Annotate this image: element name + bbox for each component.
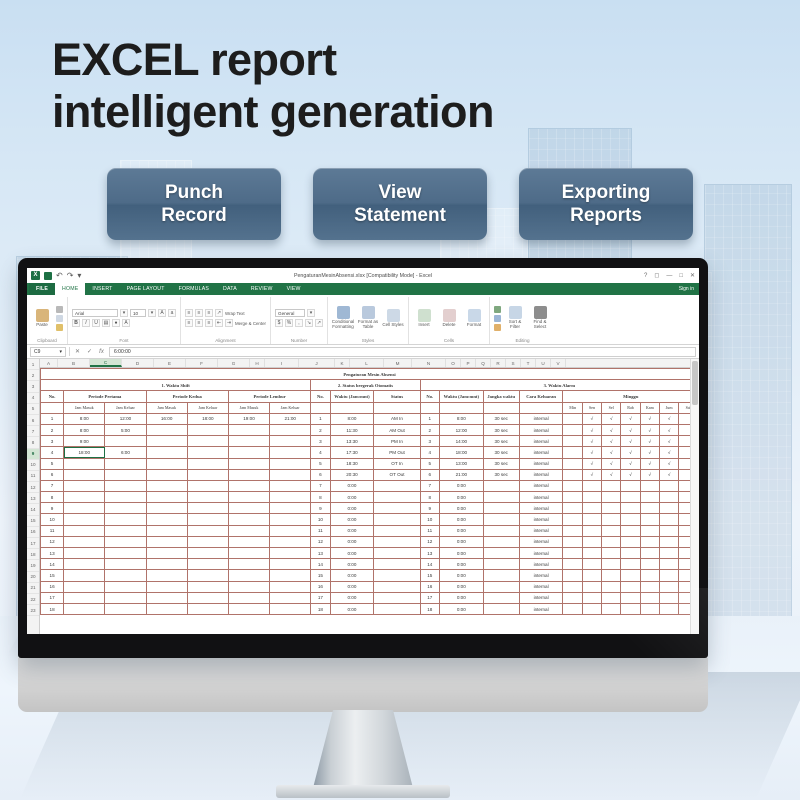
column-header-k[interactable]: K — [335, 359, 350, 367]
bold-icon[interactable]: B — [72, 319, 80, 327]
s1-value[interactable] — [187, 536, 228, 547]
s3-day-rab[interactable] — [621, 548, 640, 559]
punch-record-button[interactable]: Punch Record — [107, 168, 281, 240]
s3-day-sel[interactable] — [602, 592, 621, 603]
s3-day-sen[interactable]: √ — [582, 447, 601, 458]
s1-value[interactable]: 16:00 — [146, 413, 187, 424]
s3-no[interactable]: 18 — [420, 603, 439, 614]
s3-day-rab[interactable] — [621, 525, 640, 536]
column-header-strip[interactable]: ABCDEFGHIJKLMNOPQRSTUV — [40, 359, 699, 368]
s1-value[interactable] — [187, 592, 228, 603]
s3-day-rab[interactable] — [621, 559, 640, 570]
s3-day-min[interactable] — [563, 536, 582, 547]
s3-day-sel[interactable] — [602, 503, 621, 514]
s1-value[interactable] — [228, 469, 269, 480]
header-s1-jam-keluar-3[interactable]: Jam Keluar — [270, 402, 311, 413]
s1-value[interactable] — [146, 458, 187, 469]
s1-value[interactable] — [228, 525, 269, 536]
s3-day-rab[interactable] — [621, 603, 640, 614]
tab-file[interactable]: FILE — [29, 283, 55, 295]
header-s3-jangka-spacer[interactable] — [483, 402, 519, 413]
row-header-14[interactable]: 14 — [27, 504, 39, 515]
s3-day-sel[interactable] — [602, 536, 621, 547]
header-s1-jam-masuk-1[interactable]: Jam Masuk — [64, 402, 105, 413]
s3-waktu[interactable]: 13:00 — [439, 458, 483, 469]
s3-jangka[interactable]: 30 sec — [483, 413, 519, 424]
header-s1-jam-keluar-2[interactable]: Jam Keluar — [187, 402, 228, 413]
undo-icon[interactable]: ↶ — [56, 272, 63, 280]
s2-status[interactable] — [374, 514, 420, 525]
align-right-icon[interactable]: ≡ — [205, 319, 213, 327]
s2-status[interactable]: PM In — [374, 436, 420, 447]
window-controls[interactable]: ? ◻ — □ ✕ — [644, 272, 695, 279]
header-s3-waktu-spacer[interactable] — [439, 402, 483, 413]
s3-no[interactable]: 10 — [420, 514, 439, 525]
s2-status[interactable]: AM Out — [374, 424, 420, 435]
header-s2-status-spacer[interactable] — [374, 402, 420, 413]
s1-no[interactable]: 5 — [41, 458, 64, 469]
s1-value[interactable] — [270, 424, 311, 435]
s1-value[interactable] — [270, 447, 311, 458]
s3-day-jum[interactable] — [659, 581, 678, 592]
s3-cara[interactable]: internal — [519, 559, 563, 570]
s2-status[interactable]: PM Out — [374, 447, 420, 458]
s1-value[interactable] — [270, 514, 311, 525]
s1-value[interactable] — [270, 525, 311, 536]
s3-day-kam[interactable]: √ — [640, 424, 659, 435]
s3-day-sen[interactable] — [582, 548, 601, 559]
s2-status[interactable] — [374, 603, 420, 614]
column-header-b[interactable]: B — [58, 359, 90, 367]
s2-waktu[interactable]: 11:30 — [330, 424, 374, 435]
s1-value[interactable] — [146, 559, 187, 570]
s3-cara[interactable]: internal — [519, 480, 563, 491]
column-header-s[interactable]: S — [506, 359, 521, 367]
section-3-label[interactable]: 3. Waktu Alarm — [420, 380, 698, 391]
s3-day-sen[interactable]: √ — [582, 413, 601, 424]
header-s3-cara-spacer[interactable] — [519, 402, 563, 413]
s3-day-min[interactable] — [563, 592, 582, 603]
s1-value[interactable] — [228, 548, 269, 559]
s3-jangka[interactable] — [483, 592, 519, 603]
s3-day-rab[interactable] — [621, 536, 640, 547]
paste-button[interactable]: Paste — [31, 309, 53, 328]
s3-day-sen[interactable] — [582, 559, 601, 570]
s1-value[interactable] — [270, 436, 311, 447]
s2-no[interactable]: 9 — [311, 503, 330, 514]
row-header-22[interactable]: 22 — [27, 594, 39, 605]
s1-value[interactable] — [270, 570, 311, 581]
s1-value[interactable] — [146, 603, 187, 614]
s2-waktu[interactable]: 17:30 — [330, 447, 374, 458]
align-bottom-icon[interactable]: ≡ — [205, 309, 213, 317]
s3-waktu[interactable]: 0:00 — [439, 581, 483, 592]
s1-no[interactable]: 14 — [41, 559, 64, 570]
s3-no[interactable]: 6 — [420, 469, 439, 480]
row-header-12[interactable]: 12 — [27, 482, 39, 493]
s3-cara[interactable]: internal — [519, 492, 563, 503]
s1-value[interactable]: 8:00 — [64, 413, 105, 424]
s3-waktu[interactable]: 0:00 — [439, 570, 483, 581]
s3-jangka[interactable]: 30 sec — [483, 447, 519, 458]
s1-value[interactable]: 19:00 — [228, 413, 269, 424]
delete-cells-button[interactable]: Delete — [438, 309, 460, 328]
s2-no[interactable]: 8 — [311, 492, 330, 503]
s1-value[interactable] — [187, 559, 228, 570]
s3-waktu[interactable]: 0:00 — [439, 548, 483, 559]
s1-value[interactable] — [228, 581, 269, 592]
column-header-q[interactable]: Q — [476, 359, 491, 367]
s3-day-jum[interactable] — [659, 559, 678, 570]
s1-value[interactable] — [105, 536, 146, 547]
s3-waktu[interactable]: 0:00 — [439, 480, 483, 491]
s3-waktu[interactable]: 0:00 — [439, 492, 483, 503]
s3-day-sen[interactable]: √ — [582, 436, 601, 447]
header-day-sel[interactable]: Sel — [602, 402, 621, 413]
conditional-formatting-button[interactable]: Conditional Formatting — [332, 306, 354, 329]
s2-waktu[interactable]: 0:00 — [330, 581, 374, 592]
s3-waktu[interactable]: 0:00 — [439, 514, 483, 525]
s3-jangka[interactable]: 30 sec — [483, 458, 519, 469]
s3-day-min[interactable] — [563, 525, 582, 536]
row-header-16[interactable]: 16 — [27, 527, 39, 538]
section-2-label[interactable]: 2. Status bergerak Otomatis — [311, 380, 420, 391]
s1-value[interactable] — [105, 603, 146, 614]
s1-value[interactable] — [228, 603, 269, 614]
s2-no[interactable]: 15 — [311, 570, 330, 581]
s3-jangka[interactable] — [483, 570, 519, 581]
s3-day-min[interactable] — [563, 492, 582, 503]
s1-no[interactable]: 3 — [41, 436, 64, 447]
s1-value[interactable] — [146, 469, 187, 480]
s3-day-jum[interactable]: √ — [659, 469, 678, 480]
header-s2-status[interactable]: Status — [374, 391, 420, 402]
s2-waktu[interactable]: 18:30 — [330, 458, 374, 469]
s3-jangka[interactable]: 30 sec — [483, 436, 519, 447]
s3-jangka[interactable] — [483, 536, 519, 547]
header-s1-period-2[interactable]: Periode Kedua — [146, 391, 228, 402]
s1-value[interactable] — [105, 503, 146, 514]
s3-day-sen[interactable] — [582, 525, 601, 536]
name-box-dropdown-icon[interactable]: ▾ — [59, 349, 62, 355]
s1-value[interactable] — [64, 492, 105, 503]
s2-status[interactable]: OT In — [374, 458, 420, 469]
s2-waktu[interactable]: 0:00 — [330, 570, 374, 581]
s3-day-rab[interactable]: √ — [621, 447, 640, 458]
s1-value[interactable]: 8:00 — [64, 424, 105, 435]
s3-no[interactable]: 2 — [420, 424, 439, 435]
s3-waktu[interactable]: 0:00 — [439, 592, 483, 603]
s2-status[interactable] — [374, 480, 420, 491]
s2-status[interactable] — [374, 581, 420, 592]
s3-day-sel[interactable] — [602, 581, 621, 592]
s1-value[interactable] — [270, 548, 311, 559]
header-s2-no[interactable]: No. — [311, 391, 330, 402]
s3-day-sen[interactable] — [582, 592, 601, 603]
s3-day-sen[interactable]: √ — [582, 469, 601, 480]
s3-cara[interactable]: internal — [519, 603, 563, 614]
s1-value[interactable] — [270, 536, 311, 547]
s3-waktu[interactable]: 0:00 — [439, 536, 483, 547]
s3-day-sen[interactable] — [582, 492, 601, 503]
s3-day-sel[interactable] — [602, 514, 621, 525]
s2-status[interactable] — [374, 570, 420, 581]
s1-value[interactable] — [64, 469, 105, 480]
customize-qat-icon[interactable]: ▾ — [77, 272, 81, 280]
s3-day-min[interactable] — [563, 436, 582, 447]
s2-status[interactable] — [374, 559, 420, 570]
s3-day-min[interactable] — [563, 469, 582, 480]
s2-no[interactable]: 17 — [311, 592, 330, 603]
s1-value[interactable] — [187, 548, 228, 559]
s3-day-sel[interactable] — [602, 570, 621, 581]
s3-jangka[interactable] — [483, 559, 519, 570]
s3-day-min[interactable] — [563, 447, 582, 458]
s3-day-kam[interactable] — [640, 525, 659, 536]
s1-value[interactable] — [270, 592, 311, 603]
s3-day-jum[interactable] — [659, 492, 678, 503]
row-header-11[interactable]: 11 — [27, 471, 39, 482]
find-select-button[interactable]: Find & Select — [529, 306, 551, 329]
s1-value[interactable] — [146, 492, 187, 503]
s3-cara[interactable]: internal — [519, 503, 563, 514]
s3-cara[interactable]: internal — [519, 592, 563, 603]
s1-value[interactable] — [270, 492, 311, 503]
row-header-1[interactable]: 1 — [27, 359, 39, 370]
s3-no[interactable]: 12 — [420, 536, 439, 547]
s1-no[interactable]: 10 — [41, 514, 64, 525]
s3-cara[interactable]: internal — [519, 469, 563, 480]
section-1-label[interactable]: 1. Waktu Shift — [41, 380, 311, 391]
insert-function-icon[interactable]: fx — [97, 349, 106, 355]
s3-no[interactable]: 15 — [420, 570, 439, 581]
s3-day-sel[interactable]: √ — [602, 447, 621, 458]
s3-jangka[interactable] — [483, 525, 519, 536]
formula-input[interactable]: 6:00:00 — [109, 347, 696, 357]
redo-icon[interactable]: ↷ — [67, 272, 74, 280]
s1-value[interactable] — [105, 492, 146, 503]
s1-value[interactable] — [105, 592, 146, 603]
s1-value[interactable] — [146, 536, 187, 547]
s1-value[interactable] — [64, 503, 105, 514]
s3-day-sel[interactable] — [602, 525, 621, 536]
s3-waktu[interactable]: 0:00 — [439, 603, 483, 614]
s1-value[interactable] — [270, 458, 311, 469]
s3-cara[interactable]: internal — [519, 413, 563, 424]
s3-jangka[interactable]: 30 sec — [483, 469, 519, 480]
s1-no[interactable]: 17 — [41, 592, 64, 603]
s3-no[interactable]: 14 — [420, 559, 439, 570]
s1-value[interactable]: 9:00 — [64, 436, 105, 447]
s3-day-sel[interactable] — [602, 548, 621, 559]
column-header-u[interactable]: U — [536, 359, 551, 367]
cancel-entry-icon[interactable]: ✕ — [73, 348, 82, 355]
s2-no[interactable]: 4 — [311, 447, 330, 458]
tab-data[interactable]: DATA — [216, 283, 244, 295]
align-center-icon[interactable]: ≡ — [195, 319, 203, 327]
column-header-m[interactable]: M — [384, 359, 412, 367]
s3-no[interactable]: 9 — [420, 503, 439, 514]
s3-day-sen[interactable] — [582, 603, 601, 614]
row-header-21[interactable]: 21 — [27, 583, 39, 594]
s1-value[interactable] — [64, 592, 105, 603]
s3-day-min[interactable] — [563, 413, 582, 424]
column-header-a[interactable]: A — [40, 359, 58, 367]
s3-jangka[interactable] — [483, 503, 519, 514]
font-size-dropdown-icon[interactable]: ▾ — [148, 309, 156, 317]
comma-style-icon[interactable]: , — [295, 319, 303, 327]
font-color-icon[interactable]: A — [122, 319, 130, 327]
s3-waktu[interactable]: 0:00 — [439, 559, 483, 570]
number-format-dropdown-icon[interactable]: ▾ — [307, 309, 315, 317]
format-as-table-button[interactable]: Format as Table — [357, 306, 379, 329]
s1-no[interactable]: 6 — [41, 469, 64, 480]
s1-value[interactable] — [228, 514, 269, 525]
s3-day-sab[interactable] — [679, 592, 699, 603]
s2-waktu[interactable]: 0:00 — [330, 548, 374, 559]
header-s1-jam-keluar-1[interactable]: Jam Keluar — [105, 402, 146, 413]
column-header-l[interactable]: L — [350, 359, 384, 367]
s3-day-jum[interactable] — [659, 603, 678, 614]
s2-status[interactable] — [374, 592, 420, 603]
s3-day-min[interactable] — [563, 581, 582, 592]
s1-value[interactable] — [146, 424, 187, 435]
tab-home[interactable]: HOME — [55, 283, 85, 295]
s1-value[interactable] — [105, 514, 146, 525]
s3-jangka[interactable] — [483, 548, 519, 559]
s3-day-jum[interactable]: √ — [659, 458, 678, 469]
name-box[interactable]: C9 ▾ — [30, 347, 66, 357]
s3-day-rab[interactable]: √ — [621, 436, 640, 447]
row-header-7[interactable]: 7 — [27, 426, 39, 437]
row-header-15[interactable]: 15 — [27, 516, 39, 527]
s1-value[interactable] — [228, 424, 269, 435]
s2-status[interactable] — [374, 525, 420, 536]
fill-color-icon[interactable]: ● — [112, 319, 120, 327]
s3-waktu[interactable]: 0:00 — [439, 525, 483, 536]
font-name-box[interactable]: Arial — [72, 309, 118, 317]
s3-day-min[interactable] — [563, 514, 582, 525]
header-s3-cara[interactable]: Cara Keluaran — [519, 391, 563, 402]
row-header-17[interactable]: 17 — [27, 538, 39, 549]
s1-value[interactable] — [105, 469, 146, 480]
s3-day-min[interactable] — [563, 603, 582, 614]
s1-value[interactable] — [64, 581, 105, 592]
s3-day-sel[interactable]: √ — [602, 458, 621, 469]
s3-day-sen[interactable] — [582, 514, 601, 525]
autosum-button[interactable] — [494, 306, 501, 313]
quick-access-toolbar[interactable]: ↶ ↷ ▾ — [31, 271, 81, 280]
s3-day-jum[interactable] — [659, 503, 678, 514]
s1-value[interactable] — [270, 559, 311, 570]
s3-day-rab[interactable] — [621, 592, 640, 603]
column-header-r[interactable]: R — [491, 359, 506, 367]
s3-waktu[interactable]: 21:00 — [439, 469, 483, 480]
s3-day-sen[interactable]: √ — [582, 458, 601, 469]
column-header-v[interactable]: V — [551, 359, 566, 367]
s1-value[interactable] — [105, 548, 146, 559]
s1-value[interactable] — [228, 480, 269, 491]
header-s1-no[interactable]: No. — [41, 391, 64, 402]
header-s3-no[interactable]: No. — [420, 391, 439, 402]
increase-decimal-icon[interactable]: ↘ — [305, 319, 313, 327]
s3-no[interactable]: 4 — [420, 447, 439, 458]
s3-day-kam[interactable]: √ — [640, 469, 659, 480]
header-day-kam[interactable]: Kam — [640, 402, 659, 413]
s1-no[interactable]: 4 — [41, 447, 64, 458]
s3-day-min[interactable] — [563, 458, 582, 469]
header-s1-period-3[interactable]: Periode Lembur — [228, 391, 310, 402]
s3-day-sen[interactable] — [582, 570, 601, 581]
italic-icon[interactable]: I — [82, 319, 90, 327]
row-header-8[interactable]: 8 — [27, 437, 39, 448]
s1-value[interactable] — [105, 480, 146, 491]
s3-day-kam[interactable] — [640, 548, 659, 559]
s3-day-jum[interactable]: √ — [659, 447, 678, 458]
s3-day-kam[interactable]: √ — [640, 447, 659, 458]
s3-jangka[interactable]: 30 sec — [483, 424, 519, 435]
s3-day-sel[interactable] — [602, 492, 621, 503]
s2-no[interactable]: 16 — [311, 581, 330, 592]
s1-value[interactable] — [146, 436, 187, 447]
s2-status[interactable]: AM In — [374, 413, 420, 424]
row-header-20[interactable]: 20 — [27, 572, 39, 583]
decrease-indent-icon[interactable]: ⇤ — [215, 319, 223, 327]
row-header-9[interactable]: 9 — [27, 449, 39, 460]
s2-waktu[interactable]: 0:00 — [330, 559, 374, 570]
orientation-icon[interactable]: ↗ — [215, 309, 223, 317]
s2-no[interactable]: 1 — [311, 413, 330, 424]
header-s2-waktu-spacer[interactable] — [330, 402, 374, 413]
s2-status[interactable] — [374, 492, 420, 503]
s2-no[interactable]: 6 — [311, 469, 330, 480]
s2-waktu[interactable]: 0:00 — [330, 525, 374, 536]
s3-day-sen[interactable] — [582, 581, 601, 592]
s3-waktu[interactable]: 0:00 — [439, 503, 483, 514]
tab-formulas[interactable]: FORMULAS — [172, 283, 216, 295]
s3-day-kam[interactable] — [640, 503, 659, 514]
s1-value[interactable]: 21:00 — [270, 413, 311, 424]
s3-day-sen[interactable] — [582, 480, 601, 491]
s2-no[interactable]: 14 — [311, 559, 330, 570]
s2-waktu[interactable]: 0:00 — [330, 514, 374, 525]
s1-value[interactable] — [146, 514, 187, 525]
increase-indent-icon[interactable]: ⇥ — [225, 319, 233, 327]
s1-value[interactable] — [146, 548, 187, 559]
sort-filter-button[interactable]: Sort & Filter — [504, 306, 526, 329]
s1-value[interactable] — [146, 592, 187, 603]
s1-value[interactable] — [146, 480, 187, 491]
s3-cara[interactable]: internal — [519, 570, 563, 581]
s3-day-jum[interactable]: √ — [659, 413, 678, 424]
s1-value[interactable] — [105, 570, 146, 581]
header-s1-jam-masuk-2[interactable]: Jam Masuk — [146, 402, 187, 413]
font-name-dropdown-icon[interactable]: ▾ — [120, 309, 128, 317]
s3-no[interactable]: 16 — [420, 581, 439, 592]
align-top-icon[interactable]: ≡ — [185, 309, 193, 317]
s3-day-jum[interactable] — [659, 536, 678, 547]
header-s1-period-1[interactable]: Periode Pertama — [64, 391, 146, 402]
s2-waktu[interactable]: 8:00 — [330, 413, 374, 424]
tab-page-layout[interactable]: PAGE LAYOUT — [120, 283, 172, 295]
s3-day-min[interactable] — [563, 503, 582, 514]
s1-value[interactable] — [270, 503, 311, 514]
borders-icon[interactable]: ▤ — [102, 319, 110, 327]
s1-value[interactable] — [187, 570, 228, 581]
s3-day-kam[interactable] — [640, 480, 659, 491]
s3-day-sel[interactable]: √ — [602, 413, 621, 424]
header-s3-minggu[interactable]: Minggu — [563, 391, 699, 402]
